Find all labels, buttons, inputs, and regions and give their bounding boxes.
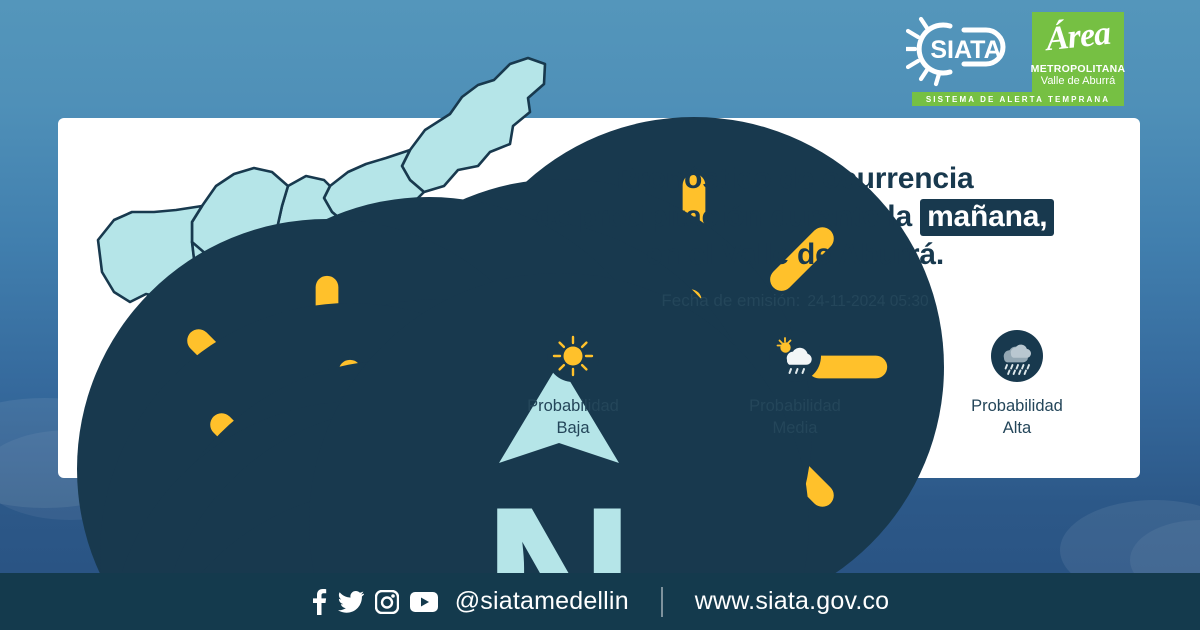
legend-item-baja: Probabilidad Baja	[493, 330, 653, 440]
social-handle[interactable]: @siatamedellin	[455, 587, 629, 616]
footer-website[interactable]: www.siata.gov.co	[695, 587, 889, 616]
area-logo-line1: METROPOLITANA	[1031, 63, 1126, 75]
compass-north-icon: N	[309, 253, 359, 303]
emission-date-value: 24-11-2024 05:30	[807, 293, 928, 311]
footer-bar: @siatamedellin www.siata.gov.co	[0, 573, 1200, 630]
emission-date: Fecha de emisión: 24-11-2024 05:30	[470, 291, 1120, 311]
legend-label-alta: Probabilidad Alta	[971, 395, 1063, 440]
page-title: Pronóstico de ocurrencia de precipitació…	[470, 160, 1120, 275]
siata-tagline-text: SISTEMA DE ALERTA TEMPRANA	[926, 95, 1110, 104]
legend-alta-line1: Probabilidad	[971, 397, 1063, 415]
title-line-1: Pronóstico de ocurrencia	[470, 160, 1120, 198]
map-station-sun-icon	[444, 97, 488, 141]
sun-cloud-icon: SIATA	[906, 12, 1026, 90]
title-highlight-manana: mañana,	[920, 199, 1054, 236]
area-logo-line2: Valle de Aburrá	[1041, 75, 1115, 88]
facebook-icon[interactable]	[311, 589, 327, 615]
sun-cloud-rain-icon	[769, 330, 821, 382]
twitter-icon[interactable]	[338, 591, 364, 613]
title-line-3: en el Valle de Aburrá.	[470, 236, 1120, 274]
legend-label-media: Probabilidad Media	[749, 395, 841, 440]
legend-label-baja: Probabilidad Baja	[527, 395, 619, 440]
logo-group: SIATA Área METROPOLITANA Valle de Aburrá	[906, 12, 1124, 92]
area-metropolitana-logo: Área METROPOLITANA Valle de Aburrá	[1032, 12, 1124, 92]
map-station-sun-icon	[100, 283, 144, 327]
legend-baja-line2: Baja	[556, 419, 589, 437]
infographic-canvas: SIATA Área METROPOLITANA Valle de Aburrá…	[0, 0, 1200, 630]
legend-item-media: Probabilidad Media	[715, 330, 875, 440]
legend-media-line1: Probabilidad	[749, 397, 841, 415]
legend-baja-line1: Probabilidad	[527, 397, 619, 415]
map-station-sun-icon	[147, 340, 191, 384]
legend-item-alta: Probabilidad Alta	[937, 330, 1097, 440]
map-station-sun-icon	[77, 199, 121, 243]
area-logo-script: Área	[1044, 17, 1111, 58]
emission-date-label: Fecha de emisión:	[661, 291, 800, 311]
svg-text:SIATA: SIATA	[930, 36, 1001, 64]
footer-divider	[661, 587, 663, 617]
siata-logo: SIATA	[906, 12, 1026, 90]
map-station-sun-icon	[158, 387, 202, 431]
sun-icon	[547, 330, 599, 382]
probability-legend: Probabilidad Baja	[470, 330, 1120, 440]
rain-cloud-icon	[991, 330, 1043, 382]
legend-media-line2: Media	[773, 419, 818, 437]
social-icon-group: @siatamedellin	[311, 587, 629, 616]
title-line-2: de precipitación durante la mañana,	[470, 198, 1120, 236]
map-station-sun-icon	[109, 381, 153, 425]
map-station-sun-icon	[138, 469, 182, 513]
headline-block: Pronóstico de ocurrencia de precipitació…	[470, 160, 1120, 311]
legend-alta-line2: Alta	[1003, 419, 1031, 437]
title-line-2-pre: de precipitación durante la	[536, 200, 912, 233]
youtube-icon[interactable]	[410, 592, 438, 612]
instagram-icon[interactable]	[375, 590, 399, 614]
